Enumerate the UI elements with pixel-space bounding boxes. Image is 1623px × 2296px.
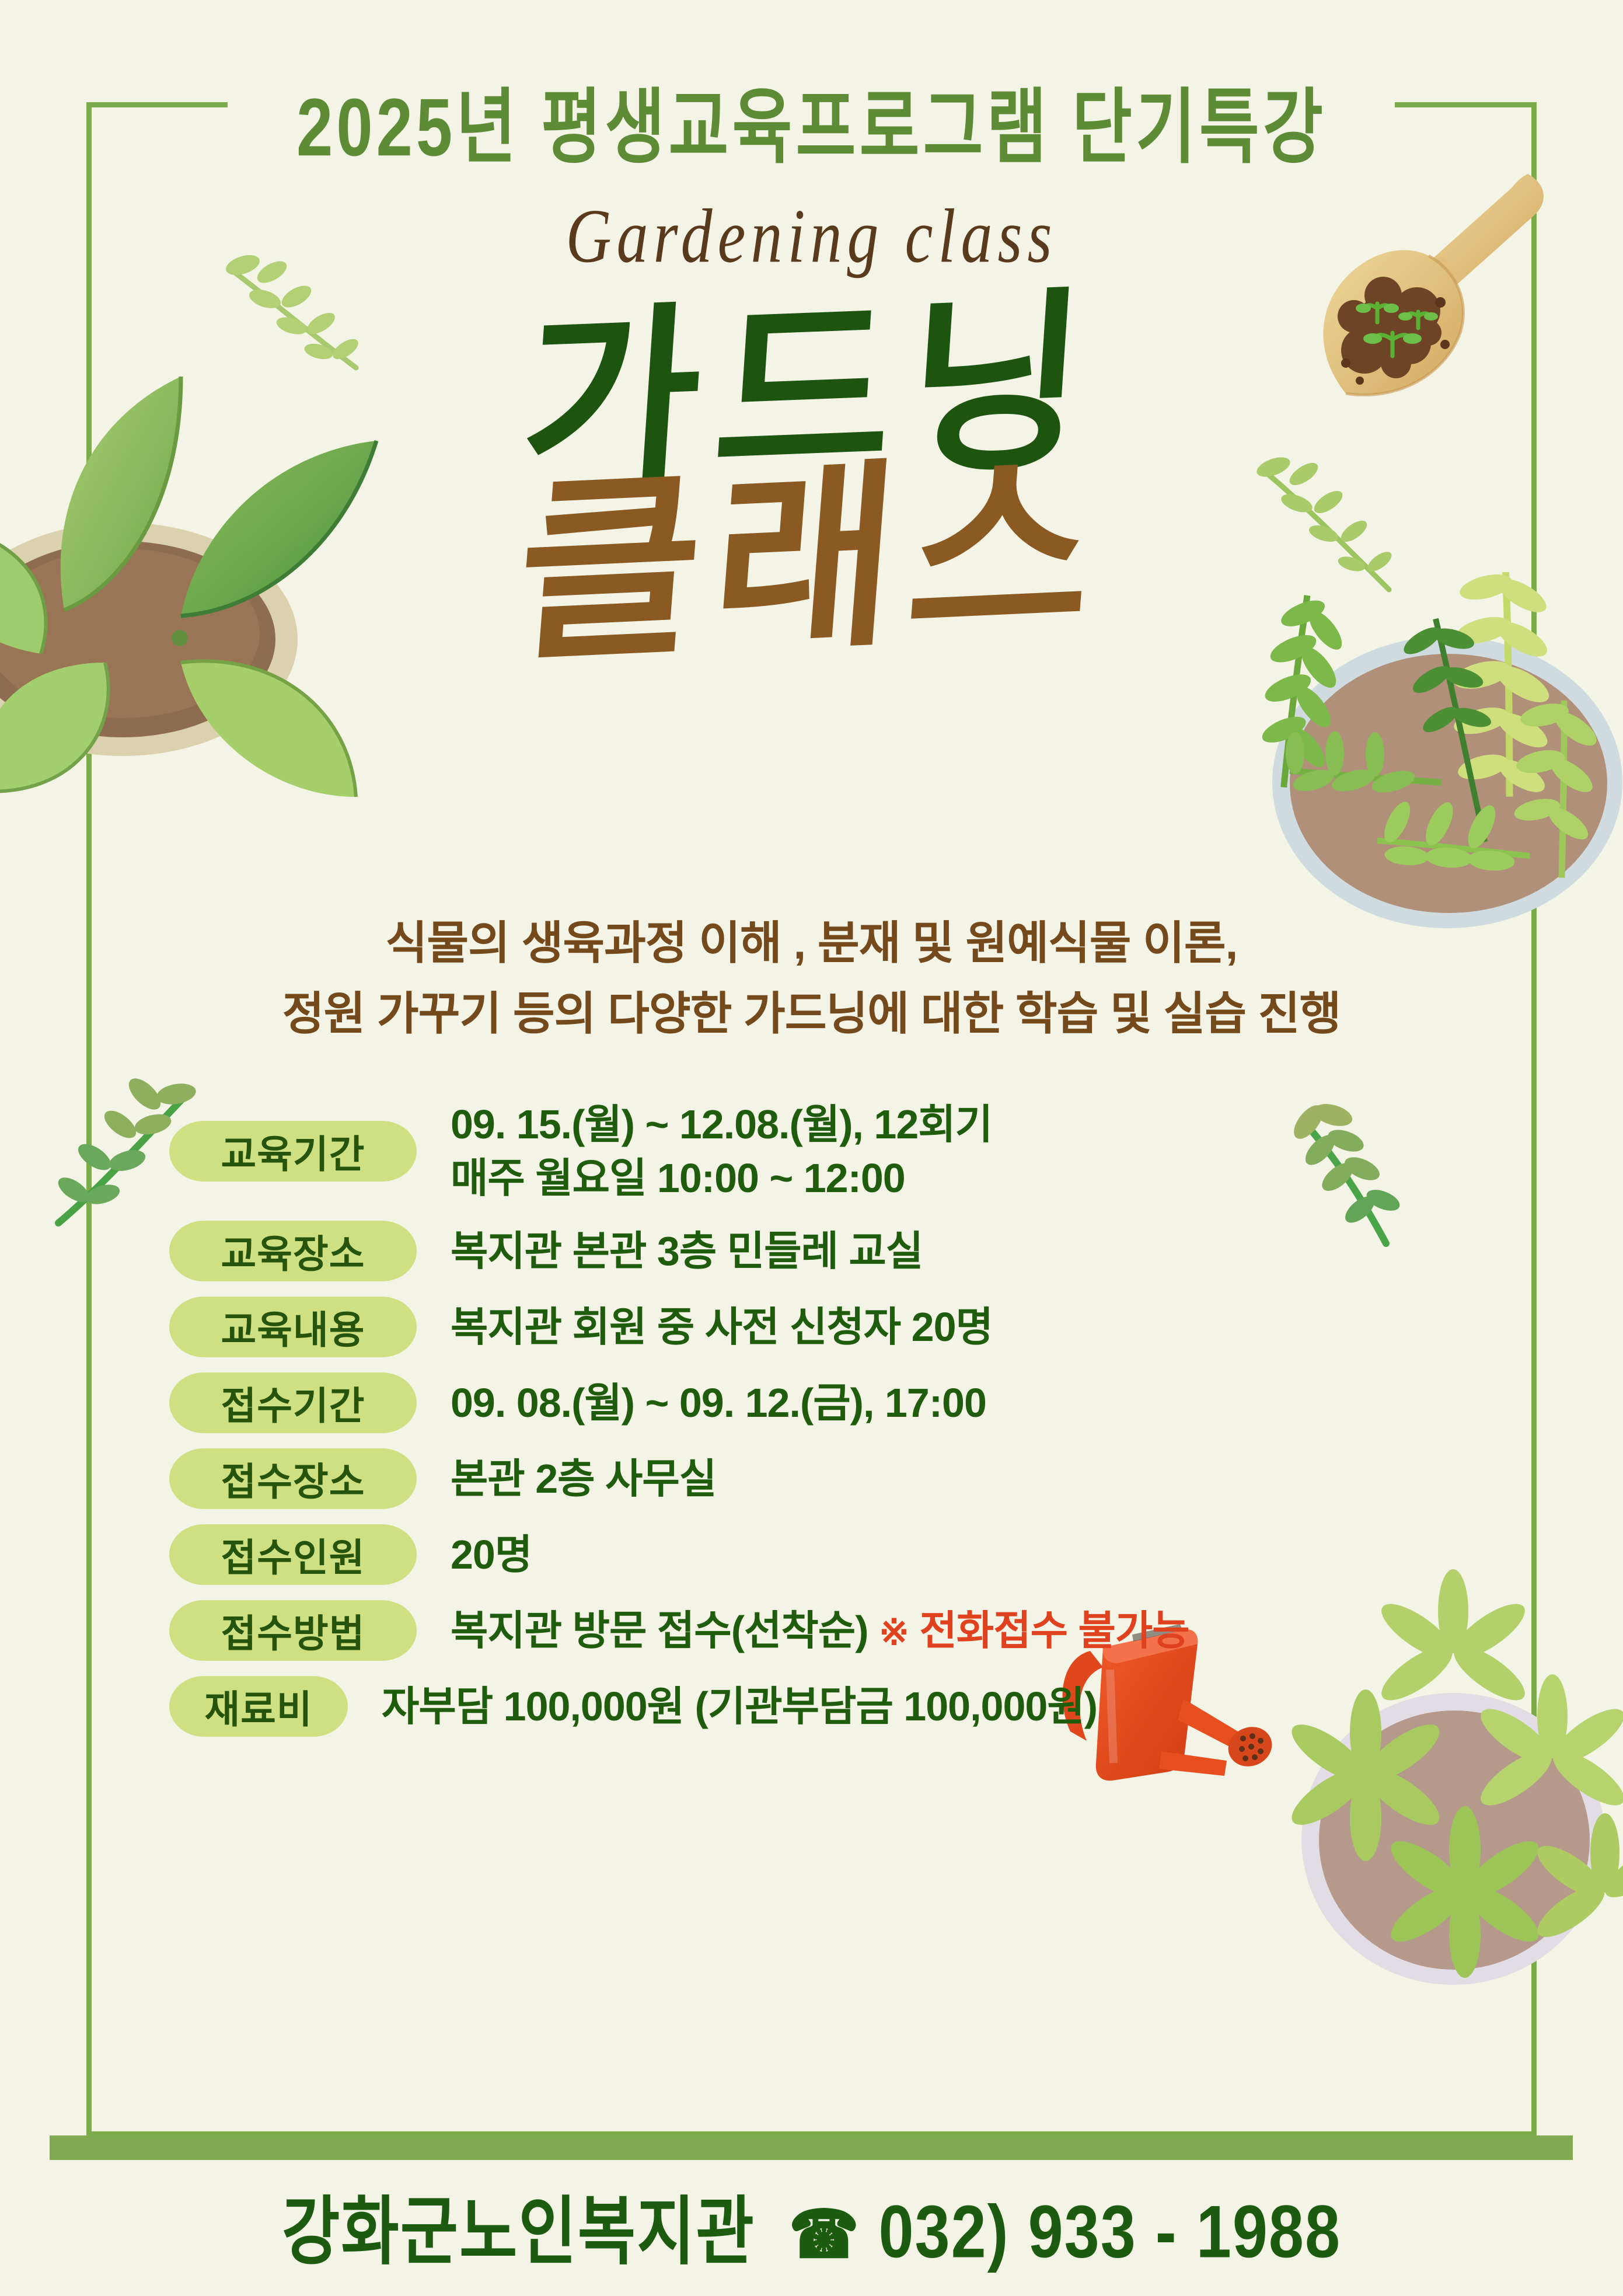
info-value-application-place: 본관 2층 사무실 xyxy=(417,1452,716,1506)
english-subtitle: Gardening class xyxy=(0,193,1623,281)
info-row-application-capacity: 접수인원 20명 xyxy=(169,1524,1482,1585)
info-label-application-capacity: 접수인원 xyxy=(169,1524,417,1585)
footer-organization: 강화군노인복지관 xyxy=(282,2190,755,2273)
info-value-application-capacity: 20명 xyxy=(417,1528,532,1581)
info-value-education-content: 복지관 회원 중 사전 신청자 20명 xyxy=(417,1300,993,1354)
info-value-material-fee: 자부담 100,000원 (기관부담금 100,000원) xyxy=(348,1680,1097,1733)
description-line-1: 식물의 생육과정 이해 , 분재 및 원예식물 이론, xyxy=(0,908,1623,978)
footer: 강화군노인복지관☎ 032) 933 - 1988 xyxy=(0,2172,1623,2279)
info-row-education-content: 교육내용 복지관 회원 중 사전 신청자 20명 xyxy=(169,1297,1482,1357)
info-label-application-period: 접수기간 xyxy=(169,1372,417,1433)
info-row-application-period: 접수기간 09. 08.(월) ~ 09. 12.(금), 17:00 xyxy=(169,1372,1482,1433)
info-row-application-place: 접수장소 본관 2층 사무실 xyxy=(169,1448,1482,1509)
application-method-text: 복지관 방문 접수(선착순) xyxy=(451,1608,868,1653)
info-value-application-method: 복지관 방문 접수(선착순) ※ 전화접수 불가능 xyxy=(417,1604,1189,1657)
application-method-warning: 전화접수 불가능 xyxy=(919,1608,1189,1653)
info-row-material-fee: 재료비 자부담 100,000원 (기관부담금 100,000원) xyxy=(169,1676,1482,1737)
info-row-education-place: 교육장소 복지관 본관 3층 민들레 교실 xyxy=(169,1221,1482,1281)
education-period-line-2: 매주 월요일 10:00 ~ 12:00 xyxy=(451,1151,992,1205)
frame-bottom-band xyxy=(50,2135,1573,2160)
info-row-education-period: 교육기간 09. 15.(월) ~ 12.08.(월), 12회기 매주 월요일… xyxy=(169,1098,1482,1206)
page-title: 가드닝 클래스 xyxy=(0,304,1623,651)
program-description: 식물의 생육과정 이해 , 분재 및 원예식물 이론, 정원 가꾸기 등의 다양… xyxy=(0,908,1623,1049)
info-row-application-method: 접수방법 복지관 방문 접수(선착순) ※ 전화접수 불가능 xyxy=(169,1600,1482,1661)
description-line-2: 정원 가꾸기 등의 다양한 가드닝에 대한 학습 및 실습 진행 xyxy=(0,978,1623,1049)
info-label-material-fee: 재료비 xyxy=(169,1676,348,1737)
program-info-list: 교육기간 09. 15.(월) ~ 12.08.(월), 12회기 매주 월요일… xyxy=(169,1098,1482,1752)
info-value-education-period: 09. 15.(월) ~ 12.08.(월), 12회기 매주 월요일 10:0… xyxy=(417,1098,992,1206)
footer-phone-number: 032) 933 - 1988 xyxy=(878,2190,1341,2273)
info-label-education-content: 교육내용 xyxy=(169,1297,417,1357)
info-label-application-place: 접수장소 xyxy=(169,1448,417,1509)
info-label-education-place: 교육장소 xyxy=(169,1221,417,1281)
info-label-education-period: 교육기간 xyxy=(169,1121,417,1182)
telephone-icon: ☎ xyxy=(789,2198,860,2271)
info-value-application-period: 09. 08.(월) ~ 09. 12.(금), 17:00 xyxy=(417,1376,986,1430)
page-eyebrow-title: 2025년 평생교육프로그램 단기특강 xyxy=(0,61,1623,180)
info-label-application-method: 접수방법 xyxy=(169,1600,417,1661)
education-period-line-1: 09. 15.(월) ~ 12.08.(월), 12회기 xyxy=(451,1098,992,1151)
info-value-education-place: 복지관 본관 3층 민들레 교실 xyxy=(417,1224,923,1278)
warning-asterisk-icon: ※ xyxy=(879,1612,909,1653)
